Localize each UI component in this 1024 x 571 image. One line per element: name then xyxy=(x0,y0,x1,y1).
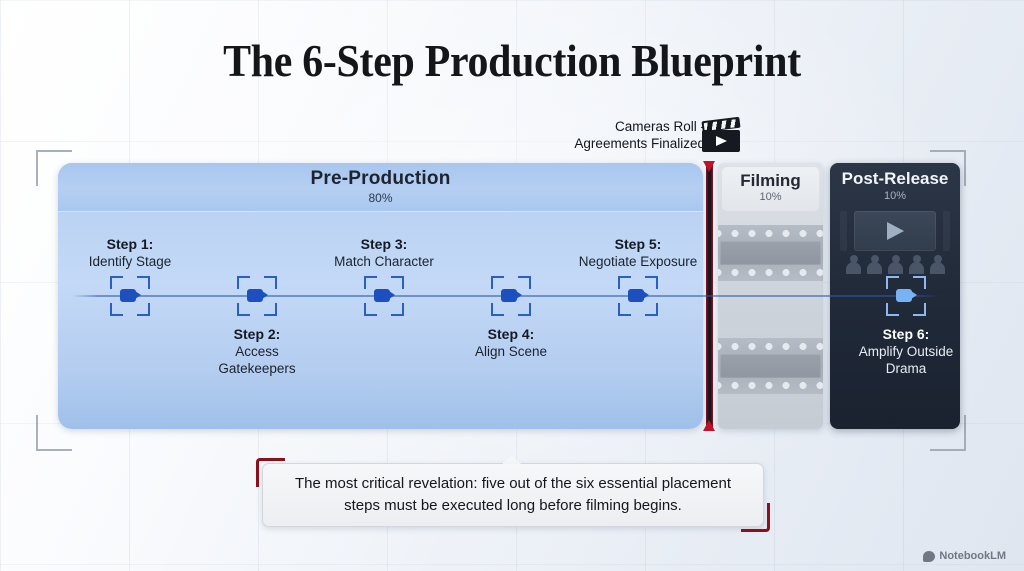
infographic-canvas: The 6-Step Production Blueprint Cameras … xyxy=(0,0,1024,571)
step-6-title-cont: Drama xyxy=(821,360,991,377)
step-marker-3[interactable] xyxy=(364,276,404,316)
step-label-5: Step 5: Negotiate Exposure xyxy=(553,236,723,270)
step-1-number: Step 1: xyxy=(45,236,215,253)
step-3-number: Step 3: xyxy=(299,236,469,253)
screen-pillar-right xyxy=(943,211,950,251)
notebooklm-watermark: NotebookLM xyxy=(923,550,1006,562)
film-strip-top xyxy=(718,225,823,281)
key-insight-callout: The most critical revelation: five out o… xyxy=(262,463,764,527)
step-2-title: Access xyxy=(172,343,342,360)
video-camera-icon xyxy=(501,289,517,302)
watermark-label: NotebookLM xyxy=(939,550,1006,562)
step-marker-4[interactable] xyxy=(491,276,531,316)
screen-pillar-left xyxy=(840,211,847,251)
video-camera-icon xyxy=(896,289,912,302)
step-2-title-cont: Gatekeepers xyxy=(172,360,342,377)
callout-accent-bottom-right xyxy=(741,503,770,532)
post-release-percent: 10% xyxy=(830,190,960,202)
callout-text: The most critical revelation: five out o… xyxy=(269,473,757,517)
post-release-header: Post-Release 10% xyxy=(830,169,960,202)
cameras-roll-annotation: Cameras Roll - Agreements Finalized xyxy=(505,118,705,152)
step-5-number: Step 5: xyxy=(553,236,723,253)
callout-line-2: steps must be executed long before filmi… xyxy=(295,495,731,517)
step-2-number: Step 2: xyxy=(172,326,342,343)
audience-silhouettes xyxy=(846,255,944,275)
step-marker-6[interactable] xyxy=(886,276,926,316)
video-camera-icon xyxy=(374,289,390,302)
step-6-number: Step 6: xyxy=(821,326,991,343)
filming-name: Filming xyxy=(722,171,819,191)
pre-production-name: Pre-Production xyxy=(58,168,703,190)
step-marker-5[interactable] xyxy=(618,276,658,316)
page-title: The 6-Step Production Blueprint xyxy=(36,35,988,87)
step-4-title: Align Scene xyxy=(426,343,596,360)
video-camera-icon xyxy=(247,289,263,302)
callout-pointer xyxy=(502,455,521,464)
step-marker-1[interactable] xyxy=(110,276,150,316)
step-1-title: Identify Stage xyxy=(45,253,215,270)
annotation-line-1: Cameras Roll - xyxy=(505,118,705,135)
step-4-number: Step 4: xyxy=(426,326,596,343)
cinema-screen-icon xyxy=(854,211,936,251)
step-6-title: Amplify Outside xyxy=(821,343,991,360)
step-label-1: Step 1: Identify Stage xyxy=(45,236,215,270)
film-strip-bottom xyxy=(718,338,823,394)
step-label-4: Step 4: Align Scene xyxy=(426,326,596,360)
callout-line-1: The most critical revelation: five out o… xyxy=(295,473,731,495)
step-label-2: Step 2: Access Gatekeepers xyxy=(172,326,342,377)
notebooklm-logo-icon xyxy=(923,551,935,562)
step-label-3: Step 3: Match Character xyxy=(299,236,469,270)
filming-percent: 10% xyxy=(722,191,819,203)
filming-header: Filming 10% xyxy=(722,167,819,211)
pre-production-percent: 80% xyxy=(58,191,703,205)
post-release-name: Post-Release xyxy=(830,169,960,189)
annotation-line-2: Agreements Finalized xyxy=(505,135,705,152)
step-marker-2[interactable] xyxy=(237,276,277,316)
pre-production-header: Pre-Production 80% xyxy=(58,163,703,212)
step-3-title: Match Character xyxy=(299,253,469,270)
video-camera-icon xyxy=(628,289,644,302)
video-camera-icon xyxy=(120,289,136,302)
clapperboard-icon xyxy=(700,119,742,153)
step-label-6: Step 6: Amplify Outside Drama xyxy=(821,326,991,377)
step-5-title: Negotiate Exposure xyxy=(553,253,723,270)
callout-accent-top-left xyxy=(256,458,285,487)
